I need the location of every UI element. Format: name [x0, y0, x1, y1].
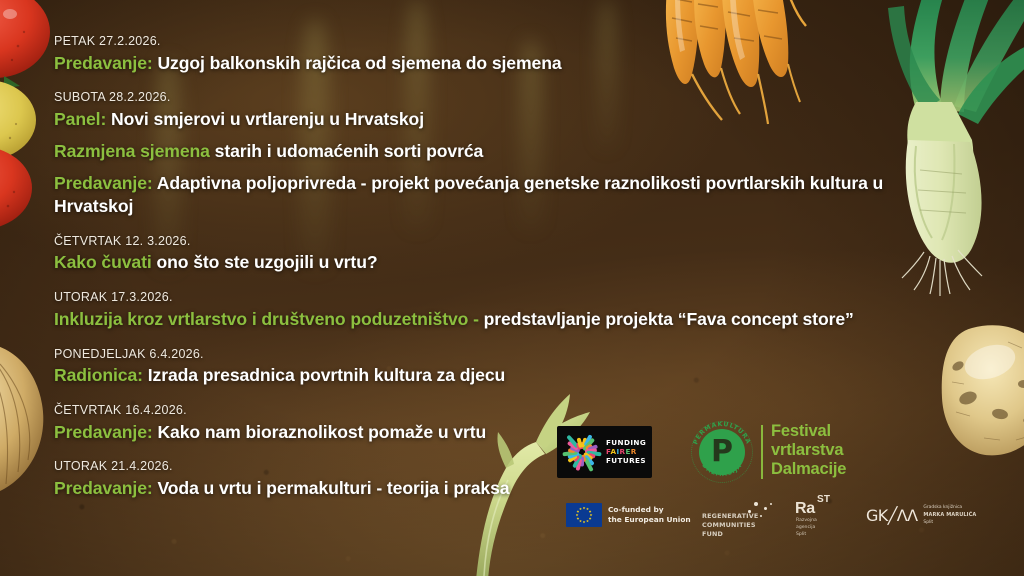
library-wordmark: Gradska knjižnica MARKA MARULIĆA Split [923, 505, 976, 526]
poster-canvas: PETAK 27.2.2026.Predavanje: Uzgoj balkon… [0, 0, 1024, 576]
entry-title: Radionica: Izrada presadnica povrtnih ku… [54, 364, 934, 387]
rast-logo[interactable]: ST Ra Razvojna agencija Split [795, 494, 855, 536]
fff-line-futures: FUTURES [606, 457, 646, 465]
fff-letter: R [631, 447, 637, 456]
permakultura-disc: P [699, 429, 745, 475]
library-line-3: Split [923, 520, 976, 527]
permakultura-monogram: P [711, 437, 733, 467]
rcf-line-2: COMMUNITIES [702, 521, 758, 530]
burst-petal [577, 437, 583, 447]
eu-star [579, 520, 582, 523]
eu-star [589, 510, 592, 513]
festival-line-1: Festival [771, 422, 846, 441]
rcf-line-1: REGENERATIVE [702, 512, 758, 521]
fff-line-fairer: FAIRER [606, 448, 646, 456]
programme-entry: PETAK 27.2.2026.Predavanje: Uzgoj balkon… [54, 34, 934, 74]
entry-title: Predavanje: Adaptivna poljoprivreda - pr… [54, 172, 934, 218]
entry-date: PONEDJELJAK 6.4.2026. [54, 347, 934, 363]
entry-subject: Uzgoj balkonskih rajčica od sjemena do s… [153, 53, 562, 73]
entry-title: Inkluzija kroz vrtlarstvo i društveno po… [54, 308, 934, 331]
eu-flag-icon [566, 503, 602, 527]
rcf-wordmark: REGENERATIVE COMMUNITIES FUND [702, 512, 758, 539]
entry-title: Razmjena sjemena starih i udomaćenih sor… [54, 140, 934, 163]
entry-date: ČETVRTAK 12. 3.2026. [54, 234, 934, 250]
entry-subject: Kako nam bioraznolikost pomaže u vrtu [153, 422, 486, 442]
entry-subject: predstavljanje projekta “Fava concept st… [479, 309, 854, 329]
eu-star [586, 520, 589, 523]
eu-cofunded-logo[interactable]: Co-funded by the European Union [566, 503, 691, 527]
festival-line-2: vrtlarstva [771, 441, 846, 460]
entry-subject: Voda u vrtu i permakulturi - teorija i p… [153, 478, 510, 498]
entry-date: PETAK 27.2.2026. [54, 34, 934, 50]
festival-line-3: Dalmacije [771, 460, 846, 479]
rast-subtitle: Razvojna agencija Split [796, 518, 817, 539]
programme-entry: PONEDJELJAK 6.4.2026.Radionica: Izrada p… [54, 347, 934, 387]
eu-star [586, 507, 589, 510]
entry-subject: Adaptivna poljoprivreda - projekt poveća… [54, 173, 883, 216]
eu-line-1: Co-funded by [608, 505, 691, 515]
library-line-1: Gradska knjižnica [923, 505, 976, 512]
permakultura-dalmacija-logo[interactable]: PERMAKULTURA DALMACIJA P [691, 421, 753, 483]
entry-subject: starih i udomaćenih sorti povrća [210, 141, 483, 161]
eu-cofunded-label: Co-funded by the European Union [608, 505, 691, 525]
programme-entry: ČETVRTAK 12. 3.2026.Kako čuvati ono što … [54, 234, 934, 274]
rast-sub-1: Razvojna [796, 518, 817, 525]
entry-keyword: Razmjena sjemena [54, 141, 210, 161]
rast-st: ST [817, 494, 830, 505]
eu-star [590, 514, 593, 517]
entry-date: SUBOTA 28.2.2026. [54, 90, 934, 106]
eu-star [589, 517, 592, 520]
eu-star [583, 507, 586, 510]
programme-entry: SUBOTA 28.2.2026.Panel: Novi smjerovi u … [54, 90, 934, 217]
library-logo[interactable]: GK╱ΛΛ Gradska knjižnica MARKA MARULIĆA S… [866, 505, 976, 526]
library-monogram: GK╱ΛΛ [866, 506, 917, 525]
eu-star [576, 510, 579, 513]
entry-keyword: Panel: [54, 109, 106, 129]
entry-subject: ono što ste uzgojili u vrtu? [152, 252, 378, 272]
funding-fairer-futures-wordmark: FUNDING FAIRER FUTURES [606, 439, 646, 465]
festival-wordmark[interactable]: Festival vrtlarstva Dalmacije [771, 422, 846, 479]
fff-line-funding: FUNDING [606, 439, 646, 447]
entry-keyword: Inkluzija kroz vrtlarstvo i društveno po… [54, 309, 479, 329]
entry-keyword: Predavanje: [54, 422, 153, 442]
rast-sub-2: agencija [796, 525, 817, 532]
entry-keyword: Predavanje: [54, 478, 153, 498]
entry-title: Predavanje: Uzgoj balkonskih rajčica od … [54, 52, 934, 75]
eu-star [583, 521, 586, 524]
funding-fairer-futures-logo[interactable]: FUNDING FAIRER FUTURES [557, 426, 652, 478]
entry-keyword: Predavanje: [54, 173, 153, 193]
entry-title: Panel: Novi smjerovi u vrtlarenju u Hrva… [54, 108, 934, 131]
entry-keyword: Predavanje: [54, 53, 153, 73]
library-line-2: MARKA MARULIĆA [923, 512, 976, 520]
eu-star [576, 517, 579, 520]
entry-keyword: Radionica: [54, 365, 143, 385]
entry-title: Kako čuvati ono što ste uzgojili u vrtu? [54, 251, 934, 274]
entry-date: ČETVRTAK 16.4.2026. [54, 403, 934, 419]
entry-date: UTORAK 17.3.2026. [54, 290, 934, 306]
rast-ra: Ra [795, 500, 815, 518]
eu-star [579, 507, 582, 510]
regenerative-communities-fund-logo[interactable]: REGENERATIVE COMMUNITIES FUND [702, 502, 780, 536]
entry-subject: Novi smjerovi u vrtlarenju u Hrvatskoj [106, 109, 424, 129]
eu-line-2: the European Union [608, 515, 691, 525]
logo-divider [761, 425, 763, 479]
potato-illustration [938, 322, 1024, 472]
rcf-line-3: FUND [702, 530, 758, 539]
rast-sub-3: Split [796, 532, 817, 539]
eu-star [576, 514, 579, 517]
programme-entry: UTORAK 17.3.2026.Inkluzija kroz vrtlarst… [54, 290, 934, 330]
colour-burst-icon [562, 432, 602, 472]
entry-keyword: Kako čuvati [54, 252, 152, 272]
entry-subject: Izrada presadnica povrtnih kultura za dj… [143, 365, 505, 385]
